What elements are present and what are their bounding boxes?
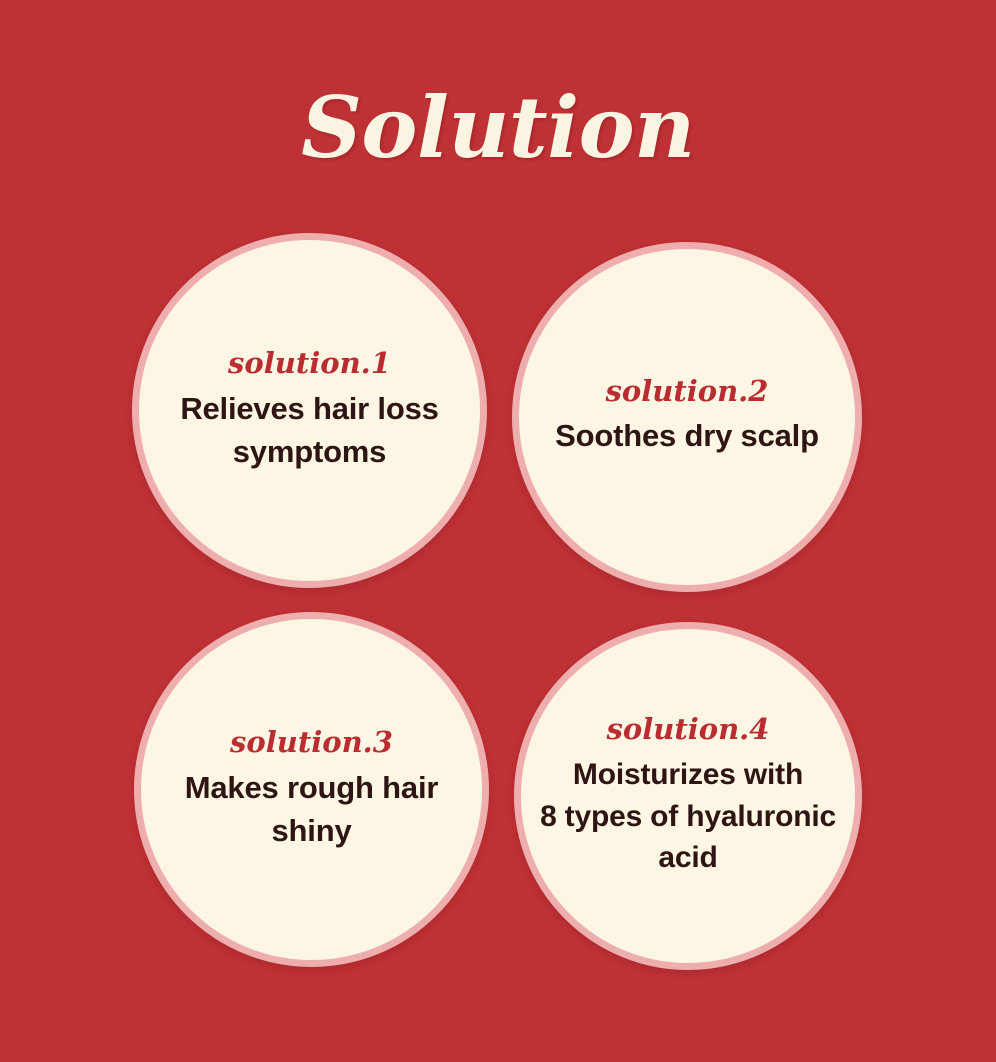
solution-3-text: Makes rough hair shiny [167,767,456,853]
solution-4-text: Moisturizes with 8 types of hyaluronic a… [531,754,845,878]
solution-circle-2-content: solution.2 Soothes dry scalp [519,376,855,457]
solution-circle-4-content: solution.4 Moisturizes with 8 types of h… [521,714,855,879]
solution-3-tag: solution.3 [167,727,456,757]
solution-circle-3-content: solution.3 Makes rough hair shiny [141,727,482,853]
solution-2-tag: solution.2 [545,376,829,406]
solution-circle-grid: solution.1 Relieves hair loss symptoms s… [0,0,996,1062]
solution-circle-1[interactable]: solution.1 Relieves hair loss symptoms [132,233,487,588]
solution-4-tag: solution.4 [531,714,845,744]
solution-2-text: Soothes dry scalp [545,415,829,458]
solution-1-text: Relieves hair loss symptoms [165,388,454,474]
solution-circle-3[interactable]: solution.3 Makes rough hair shiny [134,612,489,967]
solution-poster: Solution solution.1 Relieves hair loss s… [0,0,996,1062]
solution-circle-2[interactable]: solution.2 Soothes dry scalp [512,242,862,592]
solution-1-tag: solution.1 [165,348,454,378]
solution-circle-1-content: solution.1 Relieves hair loss symptoms [139,348,480,474]
solution-circle-4[interactable]: solution.4 Moisturizes with 8 types of h… [514,622,862,970]
